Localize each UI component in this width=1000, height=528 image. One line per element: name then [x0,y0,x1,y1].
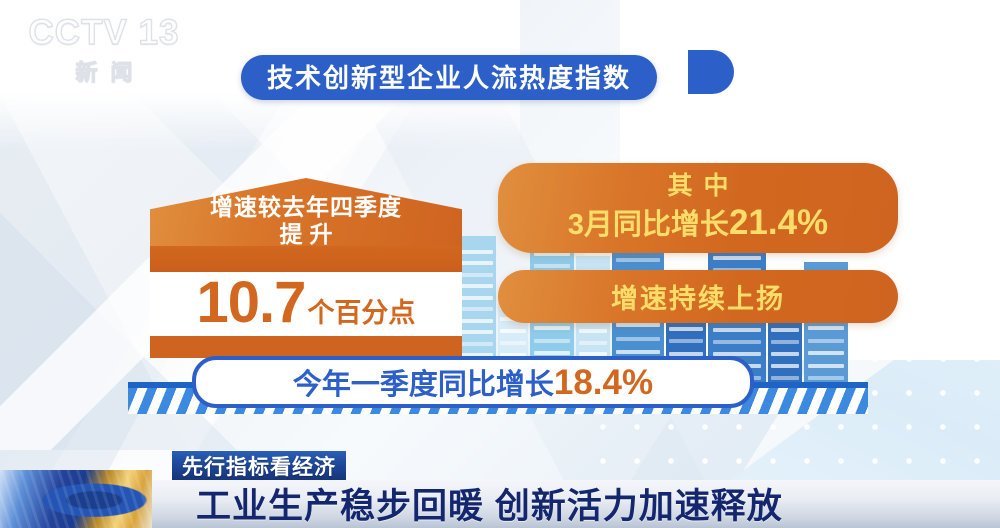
building-window-row [461,284,493,288]
building-window-row [461,296,493,300]
page-title: 技术创新型企业人流热度指数 [241,55,657,100]
building-window-row [534,326,571,330]
building-window-row [461,250,493,254]
building-window-row [579,341,608,345]
pill-trend-rising-text: 增速持续上扬 [611,277,785,316]
pill-growth-march: 其中 3月同比增长21.4% [498,163,898,253]
building-window-row [616,258,660,262]
building-window-row [771,364,800,368]
house-callout-heading: 增速较去年四季度 提升 [150,194,462,248]
building-window-row [534,339,571,343]
building-window-row [616,350,660,354]
building-window-row [461,261,493,265]
building-window-row [461,342,493,346]
cctv-logo: CCTV 13 新闻 [18,14,190,88]
building-window-row [669,339,703,343]
building-window-row [534,264,571,268]
building-window-row [616,323,660,327]
building-window-row [616,337,660,341]
globe-icon [0,470,152,528]
lower-third-tag: 先行指标看经济 [172,451,346,480]
house-callout-value: 10.7 [197,274,306,332]
building-window-row [713,328,762,332]
building-window-row [461,319,493,323]
broadcast-screenshot: CCTV 13 新闻 技术创新型企业人流热度指数 增速较去年四季度 提升 10.… [0,0,1000,528]
building-window-row [771,328,800,332]
house-callout-line1: 增速较去年四季度 [150,194,462,221]
pill-trend-rising: 增速持续上扬 [498,270,898,323]
building-window-row [534,351,571,355]
house-callout-line2: 提升 [150,221,462,248]
building-window-row [808,351,845,355]
bottom-banner-text: 今年一季度同比增长18.4% [293,361,653,403]
building-window-row [500,341,525,345]
lower-third-headline: 工业生产稳步回暖 创新活力加速释放 [196,481,783,525]
house-foot [150,336,462,358]
building-window-row [669,352,703,356]
building-window-row [771,340,800,344]
building-window-row [461,307,493,311]
pill-growth-march-line2: 3月同比增长21.4% [568,203,828,243]
building-window-row [808,326,845,330]
house-callout-value-row: 10.7 个百分点 [150,274,462,332]
building-window-row [713,256,762,260]
bottom-banner: 今年一季度同比增长18.4% [192,356,754,408]
building-window-row [771,352,800,356]
house-callout-unit: 个百分点 [307,291,415,330]
pill-growth-march-value: 21.4% [729,203,828,242]
building-window-row [808,339,845,343]
pill-growth-march-line1: 其中 [656,173,739,201]
house-band [150,246,462,272]
bottom-banner-label: 今年一季度同比增长 [293,369,554,401]
house-callout: 增速较去年四季度 提升 10.7 个百分点 [150,178,462,358]
building-window-row [461,273,493,277]
cctv-logo-sub: 新闻 [62,55,145,87]
building-window-row [771,376,800,380]
page-title-text: 技术创新型企业人流热度指数 [267,65,631,91]
cctv-logo-main: CCTV 13 [29,15,180,50]
building-window-row [808,376,845,380]
building-window-row [579,329,608,333]
bottom-banner-value: 18.4% [554,363,653,402]
building-window-row [808,364,845,368]
building-window-row [713,340,762,344]
building-window-row [500,329,525,333]
building-window-row [669,327,703,331]
pill-growth-march-prefix: 3月同比增长 [568,209,729,241]
building-window-row [461,330,493,334]
decor-blue-dot [688,50,734,94]
lower-third-tag-text: 先行指标看经济 [182,451,336,481]
